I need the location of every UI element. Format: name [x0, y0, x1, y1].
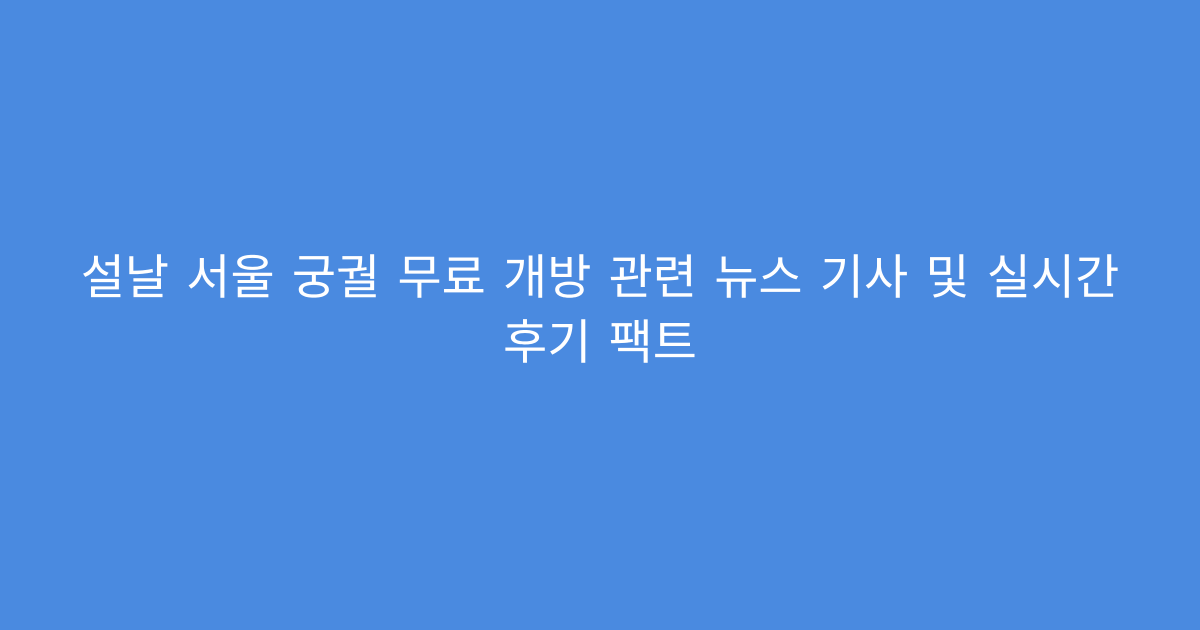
title-block: 설날 서울 궁궐 무료 개방 관련 뉴스 기사 및 실시간 후기 팩트 — [50, 246, 1150, 376]
page-title: 설날 서울 궁궐 무료 개방 관련 뉴스 기사 및 실시간 후기 팩트 — [70, 246, 1130, 376]
og-card-canvas: 설날 서울 궁궐 무료 개방 관련 뉴스 기사 및 실시간 후기 팩트 — [0, 0, 1200, 630]
